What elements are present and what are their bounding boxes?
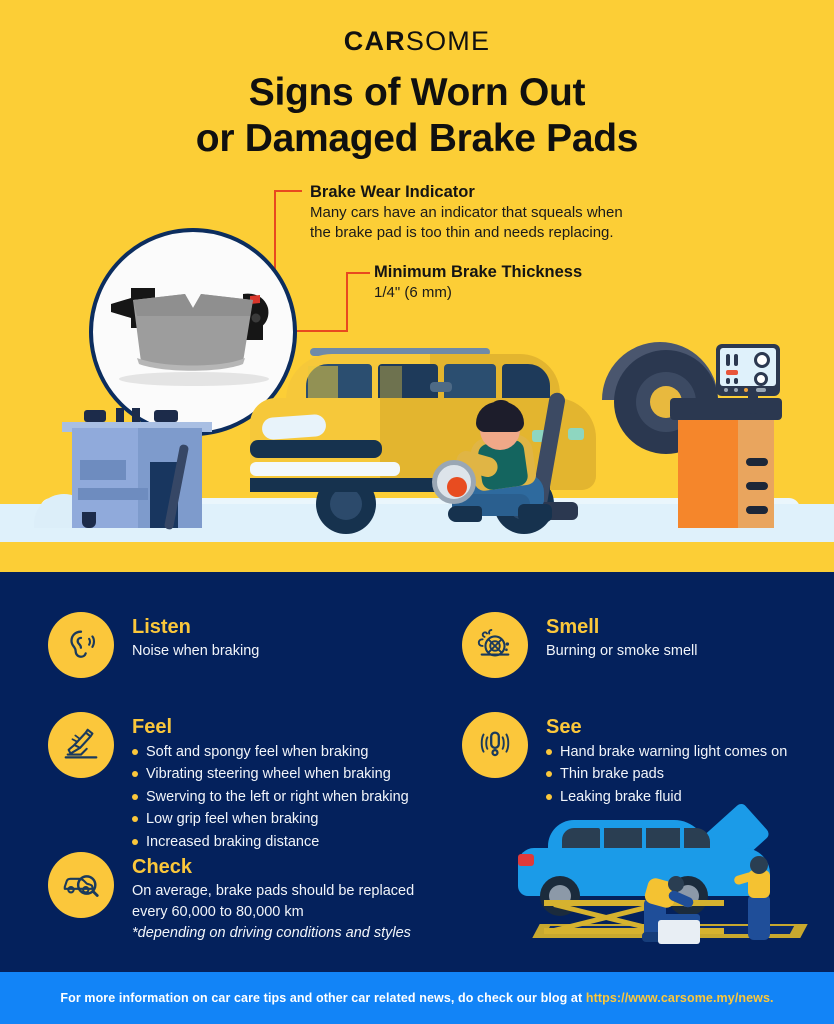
- bottom-navy-panel: Listen Noise when braking: [0, 572, 834, 972]
- tip-title: Smell: [546, 616, 698, 639]
- tip-title: See: [546, 716, 787, 739]
- tip-text-block: See Hand brake warning light comes on Th…: [546, 712, 787, 808]
- tip-see: See Hand brake warning light comes on Th…: [462, 712, 832, 808]
- callout-body-line-1: 1/4" (6 mm): [374, 283, 694, 303]
- tip-check: Check On average, brake pads should be r…: [48, 852, 458, 944]
- car-on-lift-illustration: [508, 804, 834, 950]
- list-item: Swerving to the left or right when braki…: [132, 786, 409, 808]
- callout-body-line-1: Many cars have an indicator that squeals…: [310, 203, 680, 223]
- tip-listen: Listen Noise when braking: [48, 612, 448, 678]
- list-item: Low grip feel when braking: [132, 808, 409, 830]
- car-magnifier-icon: [48, 852, 114, 918]
- ear-icon: [48, 612, 114, 678]
- logo-bold: CAR: [344, 26, 406, 56]
- carsome-logo: CARSOME: [0, 26, 834, 57]
- footer-message: For more information on car care tips an…: [60, 991, 585, 1005]
- callout-title: Brake Wear Indicator: [310, 182, 680, 203]
- leader-line-thickness-vertical: [346, 272, 348, 332]
- balancer-screen: [716, 344, 780, 396]
- brake-warning-light-icon: [462, 712, 528, 778]
- worker-standing: [740, 856, 786, 942]
- list-item: Vibrating steering wheel when braking: [132, 763, 409, 785]
- tip-title: Feel: [132, 716, 409, 739]
- list-item: Soft and spongy feel when braking: [132, 741, 409, 763]
- brake-pad-shadow: [119, 372, 269, 386]
- tip-subtitle-line-2: every 60,000 to 80,000 km: [132, 902, 414, 923]
- tip-text-block: Listen Noise when braking: [132, 612, 259, 662]
- list-item: Thin brake pads: [546, 763, 787, 785]
- tip-title: Listen: [132, 616, 259, 639]
- footer-text: For more information on car care tips an…: [60, 991, 773, 1005]
- tip-subtitle: Burning or smoke smell: [546, 641, 698, 662]
- tip-smell: Smell Burning or smoke smell: [462, 612, 832, 678]
- leader-line-thickness-horizontal: [346, 272, 370, 274]
- tire-balancer-illustration: [660, 340, 800, 530]
- top-yellow-panel: CARSOME Signs of Worn Out or Damaged Bra…: [0, 0, 834, 572]
- list-item: Increased braking distance: [132, 831, 409, 853]
- callout-title: Minimum Brake Thickness: [374, 262, 694, 283]
- tip-text-block: Smell Burning or smoke smell: [546, 612, 698, 662]
- burning-brake-rotor-icon: [462, 612, 528, 678]
- tips-section: Listen Noise when braking: [0, 572, 834, 972]
- infographic-page: CARSOME Signs of Worn Out or Damaged Bra…: [0, 0, 834, 1024]
- tip-subtitle-line-1: On average, brake pads should be replace…: [132, 881, 414, 902]
- tip-feel: Feel Soft and spongy feel when braking V…: [48, 712, 458, 853]
- logo-light: SOME: [406, 26, 490, 56]
- callout-minimum-brake-thickness: Minimum Brake Thickness 1/4" (6 mm): [374, 262, 694, 303]
- foot-on-brake-pedal-icon: [48, 712, 114, 778]
- tip-text-block: Check On average, brake pads should be r…: [132, 852, 414, 944]
- callout-body-line-2: the brake pad is too thin and needs repl…: [310, 223, 680, 243]
- title-line-1: Signs of Worn Out: [0, 70, 834, 116]
- callout-brake-wear-indicator: Brake Wear Indicator Many cars have an i…: [310, 182, 680, 243]
- tip-text-block: Feel Soft and spongy feel when braking V…: [132, 712, 409, 853]
- toolbox: [658, 920, 700, 944]
- mechanic-kneeling-illustration: [444, 398, 564, 528]
- tip-bullet-list: Soft and spongy feel when braking Vibrat…: [132, 741, 409, 853]
- leader-line-wear-horizontal: [274, 190, 302, 192]
- tip-title: Check: [132, 856, 414, 879]
- tip-bullet-list: Hand brake warning light comes on Thin b…: [546, 741, 787, 808]
- title-line-2: or Damaged Brake Pads: [0, 116, 834, 162]
- footer-bar: For more information on car care tips an…: [0, 972, 834, 1024]
- tool-cabinet-illustration: [62, 408, 212, 528]
- page-title: Signs of Worn Out or Damaged Brake Pads: [0, 70, 834, 162]
- tip-note: *depending on driving conditions and sty…: [132, 923, 414, 944]
- footer-link[interactable]: https://www.carsome.my/news.: [586, 991, 774, 1005]
- list-item: Hand brake warning light comes on: [546, 741, 787, 763]
- tip-subtitle: Noise when braking: [132, 641, 259, 662]
